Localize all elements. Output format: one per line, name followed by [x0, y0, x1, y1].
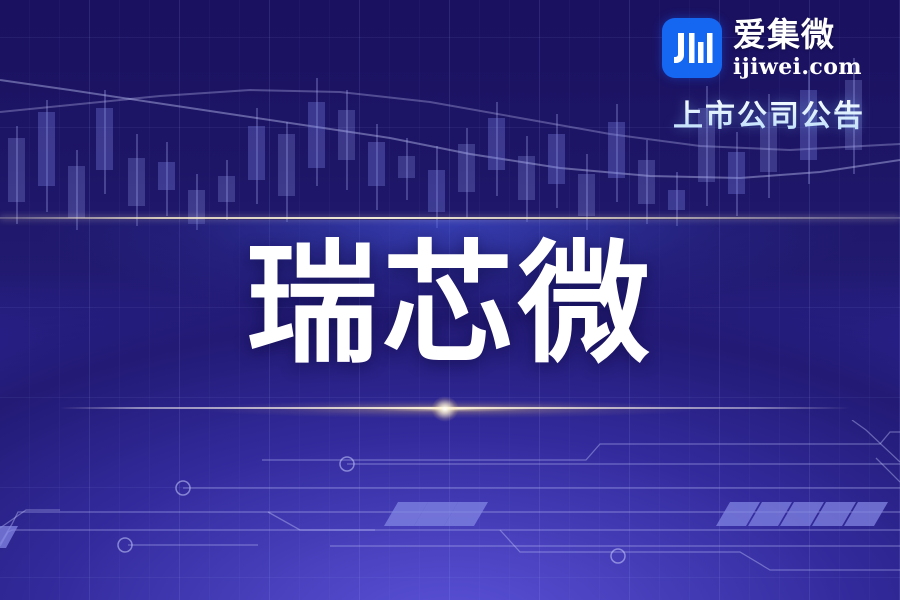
candlestick-body	[428, 170, 445, 212]
candlestick-body	[728, 152, 745, 194]
brand-wordmark: 爱集微 ijiwei.com	[733, 18, 862, 78]
candlestick	[38, 100, 55, 230]
candlestick	[308, 78, 325, 230]
company-name-headline: 瑞芯微	[0, 238, 900, 373]
circuit-pattern	[0, 420, 900, 600]
candlestick-body	[608, 122, 625, 178]
candlestick-body	[368, 142, 385, 186]
brand-domain: ijiwei.com	[733, 56, 862, 78]
ijiwei-bars-icon	[662, 18, 722, 78]
candlestick-body	[8, 138, 25, 202]
candlestick	[368, 124, 385, 230]
candlestick-body	[668, 190, 685, 210]
candlestick	[8, 126, 25, 230]
brand-logo-row: 爱集微 ijiwei.com	[662, 18, 876, 78]
candlestick-body	[96, 108, 113, 170]
candlestick-body	[128, 158, 145, 206]
candlestick	[518, 136, 535, 230]
divider-line	[0, 217, 900, 219]
candlestick-body	[218, 176, 235, 202]
candlestick-body	[548, 134, 565, 184]
candlestick	[458, 128, 475, 230]
brand-name-cn: 爱集微	[733, 18, 862, 51]
candlestick-body	[248, 126, 265, 180]
candlestick-body	[38, 112, 55, 186]
candlestick-body	[398, 156, 415, 178]
candlestick	[608, 104, 625, 230]
candlestick-body	[488, 118, 505, 170]
candlestick	[548, 114, 565, 230]
candlestick-body	[338, 110, 355, 160]
candlestick-body	[578, 174, 595, 216]
brand-logo-block: 爱集微 ijiwei.com 上市公司公告	[662, 18, 876, 135]
dash-bars	[0, 502, 888, 548]
candlestick-body	[68, 166, 85, 218]
candlestick	[728, 132, 745, 230]
candlestick	[96, 90, 113, 230]
candlestick-body	[278, 134, 295, 196]
announcement-banner: 爱集微 ijiwei.com 上市公司公告 瑞芯微	[0, 0, 900, 600]
candlestick	[248, 108, 265, 230]
candlestick-body	[158, 162, 175, 190]
candlestick-body	[458, 144, 475, 192]
candlestick-body	[518, 156, 535, 200]
banner-subtitle: 上市公司公告	[662, 91, 876, 135]
candlestick	[278, 122, 295, 230]
candlestick-body	[638, 160, 655, 204]
candlestick-body	[308, 102, 325, 168]
candlestick	[128, 134, 145, 230]
candlestick	[488, 102, 505, 230]
candlestick	[338, 90, 355, 230]
